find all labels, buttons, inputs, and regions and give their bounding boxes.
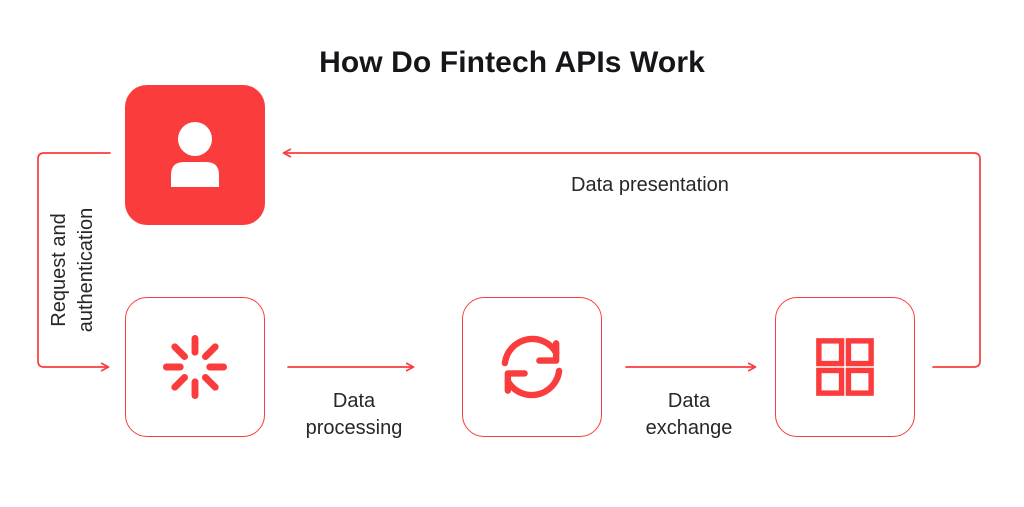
diagram-canvas: How Do Fintech APIs Work — [0, 0, 1024, 507]
node-applications[interactable] — [775, 297, 915, 437]
node-data-processing[interactable] — [125, 297, 265, 437]
user-icon — [125, 85, 265, 225]
edge-label-request-authentication: Request and authentication — [46, 155, 100, 385]
edge-label-data-processing: Data processing — [265, 388, 443, 442]
node-data-exchange[interactable] — [462, 297, 602, 437]
edge-label-data-exchange: Data exchange — [600, 388, 778, 442]
sync-icon — [463, 298, 601, 436]
grid-icon — [776, 298, 914, 436]
page-title: How Do Fintech APIs Work — [0, 46, 1024, 80]
node-user[interactable] — [125, 85, 265, 225]
spinner-icon — [126, 298, 264, 436]
edge-label-data-presentation: Data presentation — [470, 172, 830, 199]
